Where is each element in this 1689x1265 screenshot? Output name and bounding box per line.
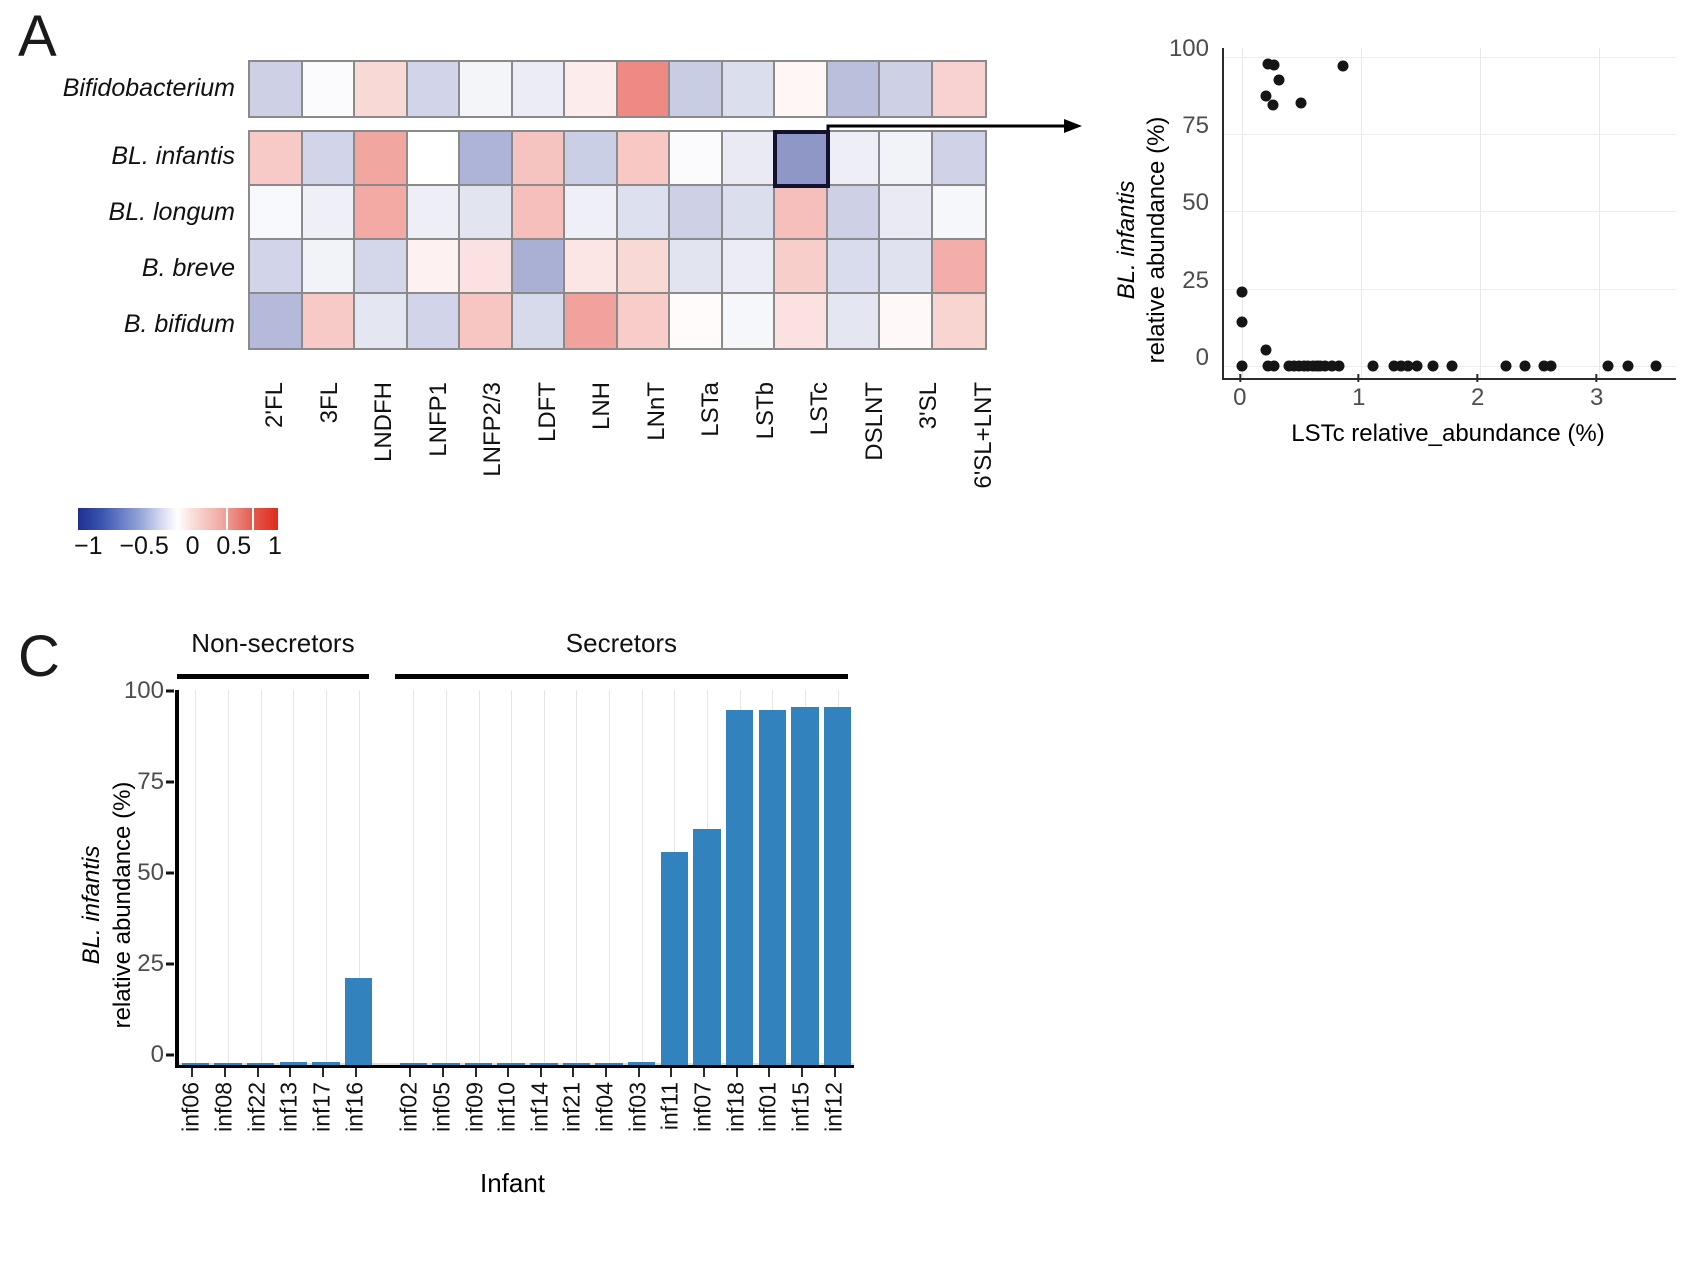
heatmap-cell[interactable] [408, 62, 461, 116]
heatmap-cell[interactable] [933, 240, 986, 294]
scatter-x-tick: 2 [1471, 384, 1484, 412]
bar-x-label: inf02 [393, 1068, 426, 1156]
heatmap-x-label: LNDFH [357, 378, 412, 498]
bar-x-label: inf07 [687, 1068, 720, 1156]
scatter-point[interactable] [1519, 360, 1530, 371]
bar-item[interactable] [628, 1062, 655, 1065]
heatmap-cell[interactable] [880, 186, 933, 240]
scatter-point[interactable] [1236, 360, 1247, 371]
heatmap-x-label: LNH [575, 378, 630, 498]
bar-y-tick-labels: 0255075100 [110, 680, 170, 1070]
bar-item[interactable] [759, 710, 786, 1065]
heatmap-cell[interactable] [250, 62, 303, 116]
bar-gridline [642, 690, 643, 1065]
scatter-point[interactable] [1268, 360, 1279, 371]
bar-gridline [293, 690, 294, 1065]
scatter-x-tickmark [1358, 374, 1360, 382]
bar-item[interactable] [280, 1062, 307, 1065]
bar-item[interactable] [497, 1063, 524, 1066]
bar-x-tickmark [442, 1068, 444, 1077]
heatmap-cell[interactable] [828, 186, 881, 240]
scatter-point[interactable] [1267, 99, 1278, 110]
bar-x-tickmark [224, 1068, 226, 1077]
bar-y-tick: 0 [151, 1041, 164, 1069]
scatter-point[interactable] [1268, 59, 1279, 70]
heatmap-x-labels: 2'FL3FLLNDFHLNFP1LNFP2/3LDFTLNHLNnTLSTaL… [248, 378, 1011, 498]
heatmap-cell[interactable] [513, 186, 566, 240]
bar-x-label: inf11 [654, 1068, 687, 1156]
scatter-point[interactable] [1334, 360, 1345, 371]
heatmap-cell[interactable] [513, 132, 566, 186]
callout-arrow-icon [790, 118, 1100, 178]
bar-y-tick: 75 [137, 768, 164, 796]
scatter-x-tick: 1 [1352, 384, 1365, 412]
bar-x-label: inf09 [458, 1068, 491, 1156]
bar-x-tickmark [638, 1068, 640, 1077]
bar-item[interactable] [824, 707, 851, 1065]
scatter-point[interactable] [1273, 75, 1284, 86]
bar-gridline [326, 690, 327, 1065]
bar-item[interactable] [595, 1063, 622, 1066]
scatter-point[interactable] [1546, 360, 1557, 371]
heatmap-x-label: 3'SL [902, 378, 957, 498]
scatter-point[interactable] [1296, 97, 1307, 108]
scatter-x-tickmark [1596, 374, 1598, 382]
heatmap-cell[interactable] [250, 240, 303, 294]
heatmap-cell[interactable] [670, 186, 723, 240]
heatmap-cell[interactable] [933, 62, 986, 116]
bar-x-tickmark [605, 1068, 607, 1077]
scatter-point[interactable] [1428, 360, 1439, 371]
heatmap-cell[interactable] [618, 132, 671, 186]
heatmap-cell[interactable] [460, 294, 513, 348]
panel-c-letter: C [18, 628, 60, 686]
heatmap-cell[interactable] [408, 294, 461, 348]
scatter-gridline-vertical [1480, 48, 1481, 378]
heatmap-cell[interactable] [565, 240, 618, 294]
heatmap-x-label: 3FL [303, 378, 358, 498]
heatmap-cell[interactable] [618, 294, 671, 348]
scatter-point[interactable] [1260, 344, 1271, 355]
heatmap-cell[interactable] [408, 132, 461, 186]
heatmap-cell[interactable] [303, 132, 356, 186]
bar-x-label: inf14 [524, 1068, 557, 1156]
bar-item[interactable] [214, 1063, 241, 1066]
bar-y-tick: 100 [124, 677, 164, 705]
scatter-point[interactable] [1603, 360, 1614, 371]
bar-x-tickmark [507, 1068, 509, 1077]
heatmap-cell[interactable] [670, 294, 723, 348]
heatmap-cell[interactable] [723, 62, 776, 116]
bar-x-label: inf04 [589, 1068, 622, 1156]
bar-x-tickmark [355, 1068, 357, 1077]
heatmap-cell[interactable] [513, 294, 566, 348]
heatmap-x-label: LSTc [793, 378, 848, 498]
scatter-x-tick: 0 [1233, 384, 1246, 412]
colorbar-tick: −1 [74, 532, 103, 561]
bar-group-label: Secretors [395, 628, 848, 659]
scatter-y-tick: 0 [1196, 344, 1209, 372]
heatmap-x-label: 6'SL+LNT [957, 378, 1012, 498]
bar-gridline [446, 690, 447, 1065]
scatter-x-tick: 3 [1590, 384, 1603, 412]
bar-gridline [609, 690, 610, 1065]
bar-item[interactable] [312, 1062, 339, 1065]
heatmap-cell[interactable] [618, 186, 671, 240]
scatter-gridline-horizontal [1224, 134, 1676, 135]
heatmap-row [250, 186, 985, 240]
heatmap-row [250, 240, 985, 294]
colorbar-gradient [78, 508, 278, 530]
bar-x-tickmark [703, 1068, 705, 1077]
heatmap-cell[interactable] [250, 132, 303, 186]
bar-x-tickmark [191, 1068, 193, 1077]
scatter-point[interactable] [1447, 360, 1458, 371]
heatmap-cell[interactable] [775, 186, 828, 240]
heatmap-x-label: DSLNT [848, 378, 903, 498]
heatmap-row-label: B. breve [30, 240, 245, 296]
bar-item[interactable] [791, 707, 818, 1065]
scatter-x-tickmark [1477, 374, 1479, 382]
bar-x-label: inf16 [338, 1068, 371, 1156]
heatmap-cell[interactable] [250, 294, 303, 348]
bar-gridline [544, 690, 545, 1065]
scatter-point[interactable] [1411, 360, 1422, 371]
bar-item[interactable] [726, 710, 753, 1065]
bar-x-tickmark [572, 1068, 574, 1077]
bar-plot-area [175, 690, 854, 1068]
heatmap-cell[interactable] [355, 132, 408, 186]
heatmap-cell[interactable] [250, 186, 303, 240]
scatter-y-axis-title-line1: BL. infantis [1113, 181, 1140, 300]
scatter-gridline-vertical [1599, 48, 1600, 378]
bar-gridline [576, 690, 577, 1065]
bar-x-tickmark [670, 1068, 672, 1077]
bar-item[interactable] [661, 852, 688, 1065]
bar-group-label: Non-secretors [177, 628, 369, 659]
bar-item[interactable] [345, 978, 372, 1065]
heatmap-grid [248, 60, 987, 350]
bar-group-line [177, 674, 369, 679]
heatmap-colorbar: −1−0.500.51 [78, 508, 278, 561]
bar-gridline [228, 690, 229, 1065]
heatmap-cell[interactable] [828, 62, 881, 116]
heatmap-row [250, 62, 985, 116]
heatmap-cell[interactable] [355, 186, 408, 240]
scatter-x-tick-labels: 0123 [1222, 384, 1674, 418]
bar-x-label: inf13 [273, 1068, 306, 1156]
heatmap-cell[interactable] [355, 294, 408, 348]
bar-y-tick: 50 [137, 859, 164, 887]
scatter-point[interactable] [1650, 360, 1661, 371]
bar-gridline [195, 690, 196, 1065]
heatmap-row-label: Bifidobacterium [30, 60, 245, 116]
bar-x-label: inf01 [752, 1068, 785, 1156]
scatter-x-tickmark [1239, 374, 1241, 382]
bar-y-axis-title-line1: BL. infantis [78, 846, 105, 965]
scatter-y-tick-labels: 0255075100 [1155, 40, 1215, 385]
heatmap-cell[interactable] [460, 240, 513, 294]
colorbar-tick: 0.5 [216, 532, 251, 561]
heatmap-cell[interactable] [618, 240, 671, 294]
colorbar-tick-labels: −1−0.500.51 [74, 532, 282, 561]
heatmap-cell[interactable] [303, 294, 356, 348]
bar-x-tick-labels: inf06inf08inf22inf13inf17inf16inf02inf05… [175, 1068, 850, 1158]
bar-group-line [395, 674, 848, 679]
heatmap-cell[interactable] [355, 62, 408, 116]
heatmap-cell[interactable] [723, 186, 776, 240]
bar-gridline [511, 690, 512, 1065]
heatmap-cell[interactable] [565, 132, 618, 186]
bar-item[interactable] [693, 829, 720, 1065]
heatmap-row-label: BL. infantis [30, 128, 245, 184]
bar-x-label: inf03 [621, 1068, 654, 1156]
bar-y-tickmark [166, 1054, 174, 1057]
heatmap-cell[interactable] [303, 62, 356, 116]
bar-x-label: inf21 [556, 1068, 589, 1156]
bar-x-tickmark [834, 1068, 836, 1077]
heatmap-cell[interactable] [565, 294, 618, 348]
heatmap-cell[interactable] [303, 240, 356, 294]
heatmap-cell[interactable] [828, 240, 881, 294]
bar-x-label: inf12 [817, 1068, 850, 1156]
heatmap-cell[interactable] [880, 294, 933, 348]
scatter-gridline-horizontal [1224, 289, 1676, 290]
bar-x-label: inf18 [719, 1068, 752, 1156]
heatmap-cell[interactable] [513, 62, 566, 116]
heatmap-cell[interactable] [775, 62, 828, 116]
scatter-point[interactable] [1623, 360, 1634, 371]
bar-x-label: inf06 [175, 1068, 208, 1156]
heatmap-x-label: LNnT [630, 378, 685, 498]
heatmap-row-label: BL. longum [30, 184, 245, 240]
colorbar-tick: 1 [268, 532, 282, 561]
bar-x-label: inf08 [208, 1068, 241, 1156]
heatmap-block [248, 60, 987, 118]
bar-item[interactable] [400, 1063, 427, 1066]
heatmap-cell[interactable] [355, 240, 408, 294]
panel-a-letter: A [18, 8, 57, 66]
bar-x-axis-title: Infant [175, 1168, 850, 1199]
scatter-y-tick: 100 [1169, 35, 1209, 63]
bar-x-tickmark [257, 1068, 259, 1077]
bar-x-tickmark [289, 1068, 291, 1077]
heatmap-cell[interactable] [460, 132, 513, 186]
bar-y-tick: 25 [137, 950, 164, 978]
heatmap-cell[interactable] [460, 62, 513, 116]
scatter-gridline-vertical [1242, 48, 1243, 378]
scatter-y-tick: 50 [1182, 189, 1209, 217]
heatmap-cell[interactable] [775, 294, 828, 348]
heatmap-cell[interactable] [513, 240, 566, 294]
bar-x-label: inf15 [785, 1068, 818, 1156]
scatter-plot-area [1222, 48, 1676, 380]
heatmap-cell[interactable] [723, 240, 776, 294]
scatter-gridline-horizontal [1224, 211, 1676, 212]
heatmap-cell[interactable] [670, 240, 723, 294]
heatmap-row-label: B. bifidum [30, 296, 245, 352]
bar-x-tickmark [409, 1068, 411, 1077]
heatmap-cell[interactable] [933, 186, 986, 240]
bar-y-tickmark [166, 962, 174, 965]
bar-item[interactable] [530, 1063, 557, 1066]
bar-item[interactable] [432, 1063, 459, 1066]
bar-x-tickmark [768, 1068, 770, 1077]
heatmap-cell[interactable] [670, 132, 723, 186]
scatter-gridline-vertical [1361, 48, 1362, 378]
heatmap-row-labels: BifidobacteriumBL. infantisBL. longumB. … [30, 60, 245, 352]
heatmap-x-label: LSTa [684, 378, 739, 498]
bar-item[interactable] [247, 1063, 274, 1066]
heatmap-cell[interactable] [408, 186, 461, 240]
heatmap-x-label: LDFT [521, 378, 576, 498]
heatmap-cell[interactable] [828, 294, 881, 348]
bar-item[interactable] [182, 1063, 209, 1066]
bar-x-tickmark [475, 1068, 477, 1077]
scatter-y-tick: 25 [1182, 267, 1209, 295]
heatmap-cell[interactable] [723, 132, 776, 186]
scatter-y-tick: 75 [1182, 112, 1209, 140]
heatmap-cell[interactable] [460, 186, 513, 240]
heatmap-cell[interactable] [670, 62, 723, 116]
heatmap-cell[interactable] [618, 62, 671, 116]
scatter-point[interactable] [1367, 360, 1378, 371]
scatter-point[interactable] [1337, 60, 1348, 71]
colorbar-tick: −0.5 [119, 532, 168, 561]
bar-x-tickmark [801, 1068, 803, 1077]
bar-item[interactable] [563, 1063, 590, 1066]
scatter-gridline-horizontal [1224, 57, 1676, 58]
bar-x-label: inf05 [426, 1068, 459, 1156]
bar-x-tickmark [322, 1068, 324, 1077]
heatmap-x-label: 2'FL [248, 378, 303, 498]
colorbar-tick: 0 [186, 532, 200, 561]
bar-gridline [413, 690, 414, 1065]
scatter-x-axis-title: LSTc relative_abundance (%) [1222, 420, 1674, 448]
heatmap-cell[interactable] [723, 294, 776, 348]
bar-gridline [479, 690, 480, 1065]
heatmap-cell[interactable] [880, 240, 933, 294]
heatmap-x-label: LNFP1 [412, 378, 467, 498]
bar-x-label: inf22 [240, 1068, 273, 1156]
panel-a-heatmap: A BifidobacteriumBL. infantisBL. longumB… [0, 0, 1060, 560]
heatmap-cell-highlighted[interactable] [775, 132, 828, 186]
bar-gridline [261, 690, 262, 1065]
heatmap-x-label: LSTb [739, 378, 794, 498]
bar-y-tickmark [166, 780, 174, 783]
heatmap-cell[interactable] [775, 240, 828, 294]
heatmap-cell[interactable] [303, 186, 356, 240]
bar-group-annotations: Non-secretorsSecretors [175, 620, 865, 690]
heatmap-x-label: LNFP2/3 [466, 378, 521, 498]
bar-x-tickmark [736, 1068, 738, 1077]
bar-x-label: inf17 [306, 1068, 339, 1156]
heatmap-cell[interactable] [565, 62, 618, 116]
scatter-point[interactable] [1236, 287, 1247, 298]
bar-y-tickmark [166, 871, 174, 874]
bar-y-tickmark [166, 689, 174, 692]
scatter-point[interactable] [1500, 360, 1511, 371]
bar-x-label: inf10 [491, 1068, 524, 1156]
heatmap-cell[interactable] [880, 62, 933, 116]
heatmap-cell[interactable] [933, 294, 986, 348]
scatter-point[interactable] [1236, 316, 1247, 327]
heatmap-row [250, 294, 985, 348]
bar-x-tickmark [540, 1068, 542, 1077]
bar-item[interactable] [465, 1063, 492, 1066]
heatmap-cell[interactable] [565, 186, 618, 240]
heatmap-cell[interactable] [408, 240, 461, 294]
